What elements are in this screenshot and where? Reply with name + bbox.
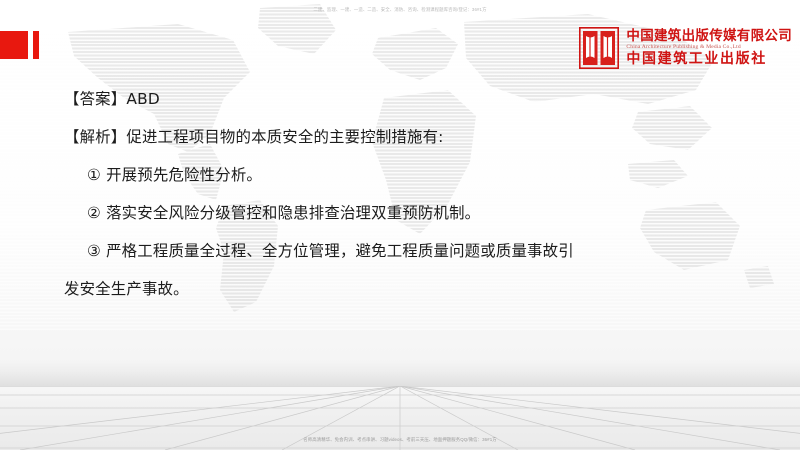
bottom-watermark-text: 名师高清精华、免会内训、考点串讲、习题videos、考前三天压、地面押题服务QQ… xyxy=(0,437,800,443)
publisher-logo: 中国建筑出版传媒有限公司 China Architecture Publishi… xyxy=(579,27,792,69)
wall-floor-shadow xyxy=(0,360,800,386)
measure-item-1: ① 开展预先危险性分析。 xyxy=(64,156,764,194)
top-watermark-text: 二建、监理、一建、一造、二造、安全、消防、咨询、检测课程题库咨询/登记：36#1… xyxy=(0,7,800,13)
analysis-line: 【解析】促进工程项目物的本质安全的主要控制措施有: xyxy=(64,118,764,156)
logo-company-cn: 中国建筑出版传媒有限公司 xyxy=(626,29,792,43)
slide-body-text: 【答案】ABD 【解析】促进工程项目物的本质安全的主要控制措施有: ① 开展预先… xyxy=(64,80,764,308)
logo-company-en: China Architecture Publishing & Media Co… xyxy=(626,45,792,51)
measure-item-3: ③ 严格工程质量全过程、全方位管理，避免工程质量问题或质量事故引 xyxy=(64,232,764,270)
publisher-logo-icon xyxy=(579,27,619,69)
presentation-slide: 二建、监理、一建、一造、二造、安全、消防、咨询、检测课程题库咨询/登记：36#1… xyxy=(0,0,800,450)
red-corner-bar xyxy=(33,31,39,59)
measure-item-2: ② 落实安全风险分级管控和隐患排查治理双重预防机制。 xyxy=(64,194,764,232)
answer-line: 【答案】ABD xyxy=(64,80,764,118)
logo-press-cn: 中国建筑工业出版社 xyxy=(626,53,792,67)
measure-item-3-continuation: 发安全生产事故。 xyxy=(64,270,764,308)
red-corner-mark xyxy=(0,31,28,59)
